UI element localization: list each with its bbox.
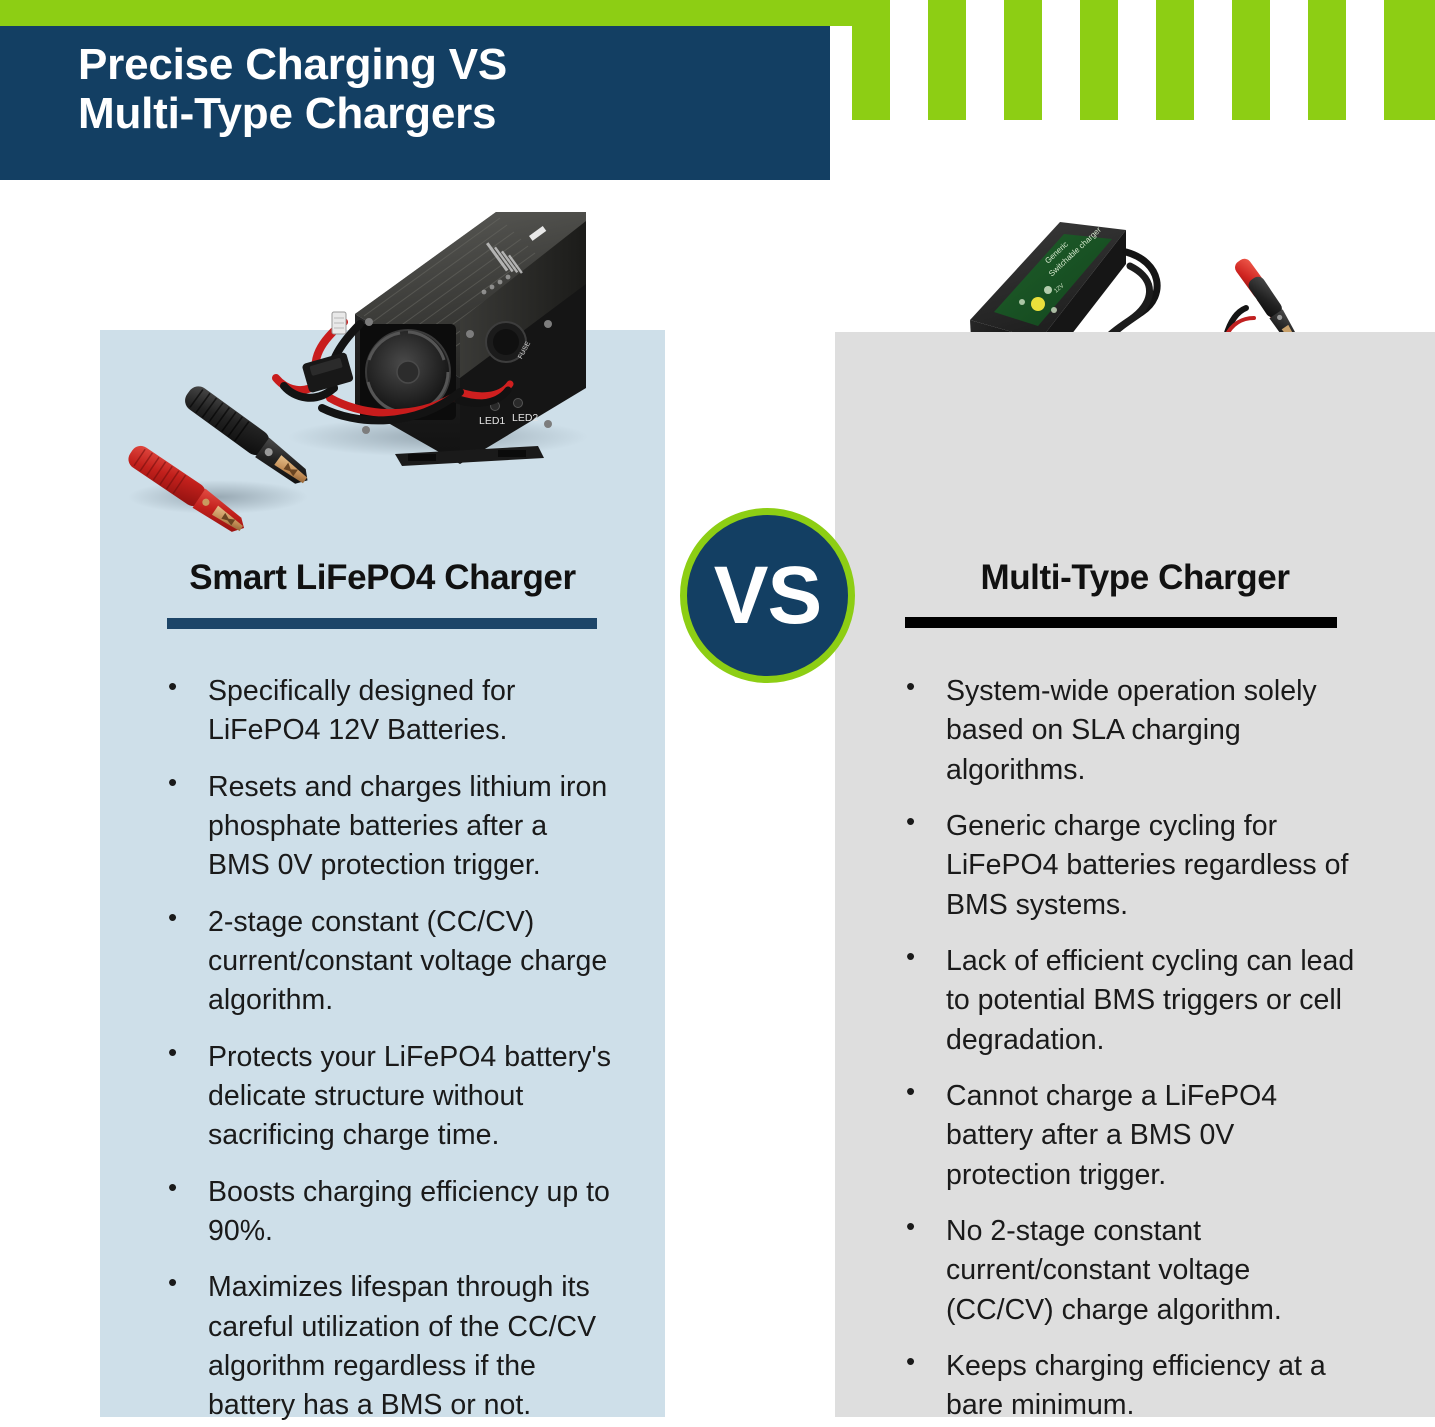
page-title-line-2: Multi-Type Chargers	[78, 89, 798, 138]
header-stripe	[1308, 0, 1346, 120]
list-item: System-wide operation solely based on SL…	[898, 672, 1358, 790]
vs-badge: VS	[680, 508, 855, 683]
left-column-heading: Smart LiFePO4 Charger	[100, 558, 665, 598]
list-item: 2-stage constant (CC/CV) current/constan…	[160, 903, 612, 1021]
list-item: No 2-stage constant current/constant vol…	[898, 1212, 1358, 1330]
led1-label: LED1	[479, 415, 505, 427]
smart-lifepo4-charger-image: FUSE LED1 LED2	[108, 192, 668, 552]
header-green-strip	[0, 0, 852, 26]
list-item: Cannot charge a LiFePO4 battery after a …	[898, 1077, 1358, 1195]
list-item: Keeps charging efficiency at a bare mini…	[898, 1347, 1358, 1426]
vs-badge-label: VS	[714, 549, 821, 643]
infographic-canvas: Precise Charging VS Multi-Type Chargers	[0, 0, 1435, 1427]
header-stripe	[1156, 0, 1194, 120]
list-item: Lack of efficient cycling can lead to po…	[898, 942, 1358, 1060]
left-column-bullet-list: Specifically designed for LiFePO4 12V Ba…	[160, 672, 612, 1427]
page-title: Precise Charging VS Multi-Type Chargers	[78, 40, 798, 139]
header-stripe-group	[852, 0, 1435, 120]
list-item: Generic charge cycling for LiFePO4 batte…	[898, 807, 1358, 925]
right-column-bullet-list: System-wide operation solely based on SL…	[898, 672, 1358, 1427]
led2-label: LED2	[512, 412, 538, 424]
right-column-heading: Multi-Type Charger	[835, 558, 1435, 598]
header-stripe	[1384, 0, 1435, 120]
left-column-rule	[167, 618, 597, 629]
list-item: Resets and charges lithium iron phosphat…	[160, 768, 612, 886]
header-stripe	[852, 0, 890, 120]
list-item: Maximizes lifespan through its careful u…	[160, 1268, 612, 1425]
header-stripe	[928, 0, 966, 120]
page-title-line-1: Precise Charging VS	[78, 40, 798, 89]
header-stripe	[1080, 0, 1118, 120]
list-item: Specifically designed for LiFePO4 12V Ba…	[160, 672, 612, 751]
header-stripe	[1004, 0, 1042, 120]
list-item: Boosts charging efficiency up to 90%.	[160, 1173, 612, 1252]
list-item: Protects your LiFePO4 battery's delicate…	[160, 1038, 612, 1156]
header-stripe	[1232, 0, 1270, 120]
right-column-rule	[905, 617, 1337, 628]
